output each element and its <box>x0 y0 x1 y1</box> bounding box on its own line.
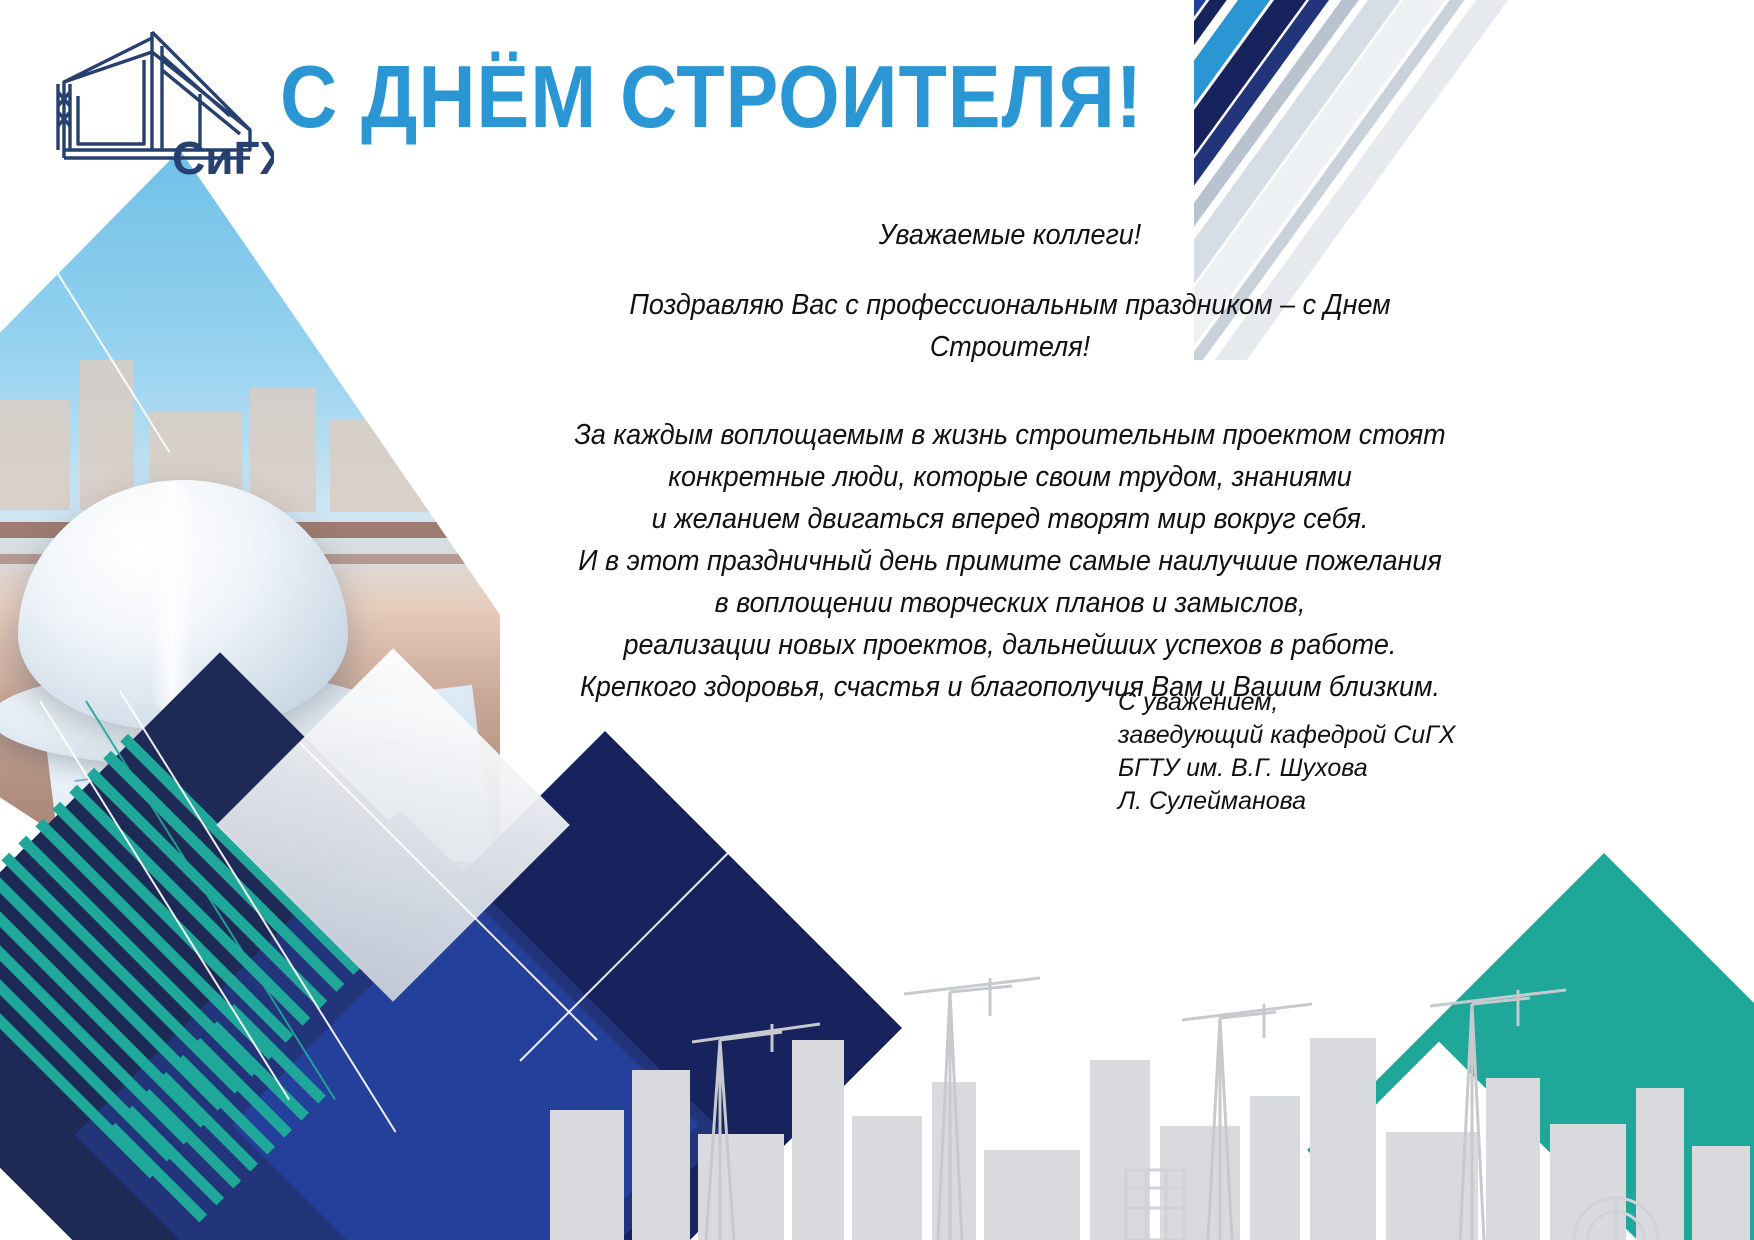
message-line: И в этот праздничный день примите самые … <box>554 540 1465 582</box>
message-line: и желанием двигаться вперед творят мир в… <box>554 498 1465 540</box>
message-body: Уважаемые коллеги! Поздравляю Вас с проф… <box>520 214 1500 708</box>
message-line: За каждым воплощаемым в жизнь строительн… <box>554 414 1465 456</box>
message-line: конкретные люди, которые своим трудом, з… <box>554 456 1465 498</box>
page-title: С ДНЁМ СТРОИТЕЛЯ! <box>280 46 1143 148</box>
signature-line: С уважением, <box>1118 686 1455 719</box>
message-line: реализации новых проектов, дальнейших ус… <box>554 624 1465 666</box>
message-line: в воплощении творческих планов и замысло… <box>554 582 1465 624</box>
congratulation-line: Поздравляю Вас с профессиональным праздн… <box>554 284 1465 368</box>
sigh-logo: СиГХ <box>44 22 274 182</box>
signature-line: заведующий кафедрой СиГХ <box>1118 719 1455 752</box>
salutation: Уважаемые коллеги! <box>554 214 1465 256</box>
greeting-card: СиГХ С ДНЁМ СТРОИТЕЛЯ! Уважаемые коллеги… <box>0 0 1754 1240</box>
signature-block: С уважением, заведующий кафедрой СиГХ БГ… <box>1118 686 1455 818</box>
signature-line: БГТУ им. В.Г. Шухова <box>1118 752 1455 785</box>
signature-line: Л. Сулейманова <box>1118 785 1455 818</box>
logo-text: СиГХ <box>172 132 274 182</box>
helmet-ridge <box>150 482 194 712</box>
